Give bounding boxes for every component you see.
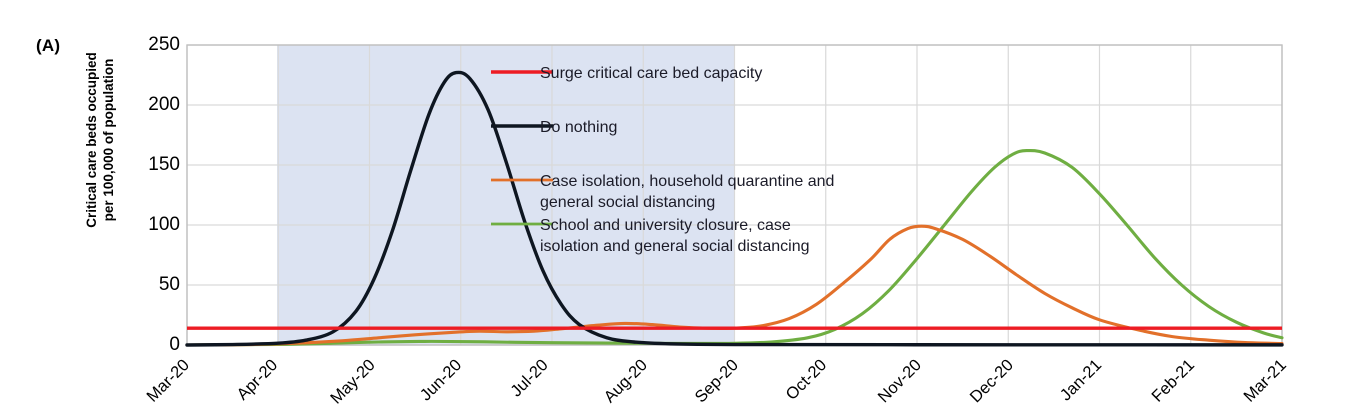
legend-label-1: Do nothing <box>540 119 617 136</box>
chart-figure: (A) Critical care beds occupied per 100,… <box>0 0 1353 413</box>
plot-area: Surge critical care bed capacityDo nothi… <box>0 0 1353 413</box>
legend-label-0: Surge critical care bed capacity <box>540 65 762 82</box>
